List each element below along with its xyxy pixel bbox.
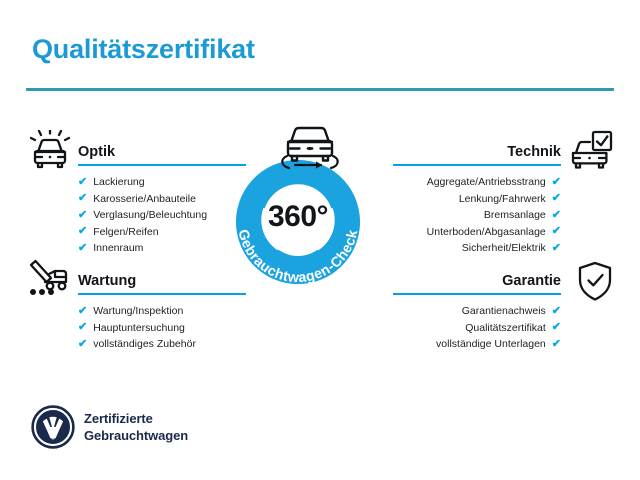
footer-brand-text: Zertifizierte Gebrauchtwagen — [84, 410, 188, 444]
car-checkbox-icon — [568, 130, 614, 172]
car-front-rotate-icon — [277, 121, 343, 173]
section-header-wartung: Wartung — [78, 265, 246, 295]
section-title-optik: Optik — [78, 144, 115, 160]
checklist-garantie: ✔Garantienachweis ✔Qualitätszertifikat ✔… — [393, 303, 561, 353]
list-item-label: Hauptuntersuchung — [93, 320, 185, 337]
section-divider-technik — [393, 164, 561, 166]
list-item: ✔Hauptuntersuchung — [78, 320, 246, 337]
list-item: ✔Lackierung — [78, 174, 246, 191]
section-garantie: Garantie ✔Garantienachweis ✔Qualitätszer… — [393, 265, 561, 353]
check-icon: ✔ — [552, 339, 561, 350]
list-item: ✔Karosserie/Anbauteile — [78, 191, 246, 208]
badge-center-label: 360° — [224, 200, 372, 234]
check-icon: ✔ — [552, 210, 561, 221]
list-item-label: Lackierung — [93, 174, 144, 191]
section-technik: Technik ✔Aggregate/Antriebsstrang ✔Lenku… — [393, 136, 561, 257]
list-item: ✔Bremsanlage — [393, 207, 561, 224]
list-item: ✔Felgen/Reifen — [78, 224, 246, 241]
list-item-label: Karosserie/Anbauteile — [93, 191, 196, 208]
list-item: ✔Lenkung/Fahrwerk — [393, 191, 561, 208]
section-header-optik: Optik — [78, 136, 246, 166]
list-item-label: Unterboden/Abgasanlage — [427, 224, 546, 241]
check-icon: ✔ — [78, 177, 87, 188]
list-item-label: Qualitätszertifikat — [465, 320, 546, 337]
section-header-technik: Technik — [393, 136, 561, 166]
wrench-car-icon — [25, 258, 71, 300]
list-item-label: Bremsanlage — [484, 207, 546, 224]
list-item: ✔Wartung/Inspektion — [78, 303, 246, 320]
volkswagen-logo — [31, 405, 75, 449]
list-item-label: Aggregate/Antriebsstrang — [427, 174, 546, 191]
list-item: ✔Sicherheit/Elektrik — [393, 240, 561, 257]
footer-line-2: Gebrauchtwagen — [84, 427, 188, 444]
list-item: ✔Verglasung/Beleuchtung — [78, 207, 246, 224]
list-item: ✔Aggregate/Antriebsstrang — [393, 174, 561, 191]
list-item: ✔vollständiges Zubehör — [78, 336, 246, 353]
list-item: ✔Innenraum — [78, 240, 246, 257]
footer-line-1: Zertifizierte — [84, 410, 188, 427]
check-icon: ✔ — [78, 306, 87, 317]
list-item-label: Felgen/Reifen — [93, 224, 158, 241]
list-item-label: vollständige Unterlagen — [436, 336, 546, 353]
check-icon: ✔ — [552, 306, 561, 317]
list-item: ✔Qualitätszertifikat — [393, 320, 561, 337]
check-icon: ✔ — [78, 226, 87, 237]
check-icon: ✔ — [552, 193, 561, 204]
check-icon: ✔ — [78, 339, 87, 350]
check-icon: ✔ — [78, 193, 87, 204]
list-item: ✔vollständige Unterlagen — [393, 336, 561, 353]
list-item-label: Garantienachweis — [462, 303, 546, 320]
page-title: Qualitätszertifikat — [32, 34, 255, 65]
check-icon: ✔ — [78, 243, 87, 254]
list-item-label: Lenkung/Fahrwerk — [459, 191, 546, 208]
checklist-optik: ✔Lackierung ✔Karosserie/Anbauteile ✔Verg… — [78, 174, 246, 257]
check-icon: ✔ — [552, 243, 561, 254]
shield-check-icon — [572, 260, 618, 302]
check-icon: ✔ — [78, 210, 87, 221]
section-wartung: Wartung ✔Wartung/Inspektion ✔Hauptunters… — [78, 265, 246, 353]
check-icon: ✔ — [552, 177, 561, 188]
check-icon: ✔ — [552, 322, 561, 333]
section-header-garantie: Garantie — [393, 265, 561, 295]
section-divider-garantie — [393, 293, 561, 295]
title-divider — [26, 88, 614, 91]
list-item-label: Verglasung/Beleuchtung — [93, 207, 207, 224]
list-item-label: Sicherheit/Elektrik — [462, 240, 546, 257]
check-icon: ✔ — [78, 322, 87, 333]
list-item-label: vollständiges Zubehör — [93, 336, 196, 353]
section-optik: Optik ✔Lackierung ✔Karosserie/Anbauteile… — [78, 136, 246, 257]
section-title-garantie: Garantie — [502, 273, 561, 289]
checklist-wartung: ✔Wartung/Inspektion ✔Hauptuntersuchung ✔… — [78, 303, 246, 353]
section-divider-optik — [78, 164, 246, 166]
check-icon: ✔ — [552, 226, 561, 237]
certificate-page: Qualitätszertifikat — [0, 0, 640, 480]
list-item-label: Wartung/Inspektion — [93, 303, 183, 320]
section-title-wartung: Wartung — [78, 273, 136, 289]
car-shine-icon — [27, 130, 73, 172]
checklist-technik: ✔Aggregate/Antriebsstrang ✔Lenkung/Fahrw… — [393, 174, 561, 257]
list-item: ✔Garantienachweis — [393, 303, 561, 320]
list-item-label: Innenraum — [93, 240, 143, 257]
section-divider-wartung — [78, 293, 246, 295]
list-item: ✔Unterboden/Abgasanlage — [393, 224, 561, 241]
section-title-technik: Technik — [507, 144, 561, 160]
